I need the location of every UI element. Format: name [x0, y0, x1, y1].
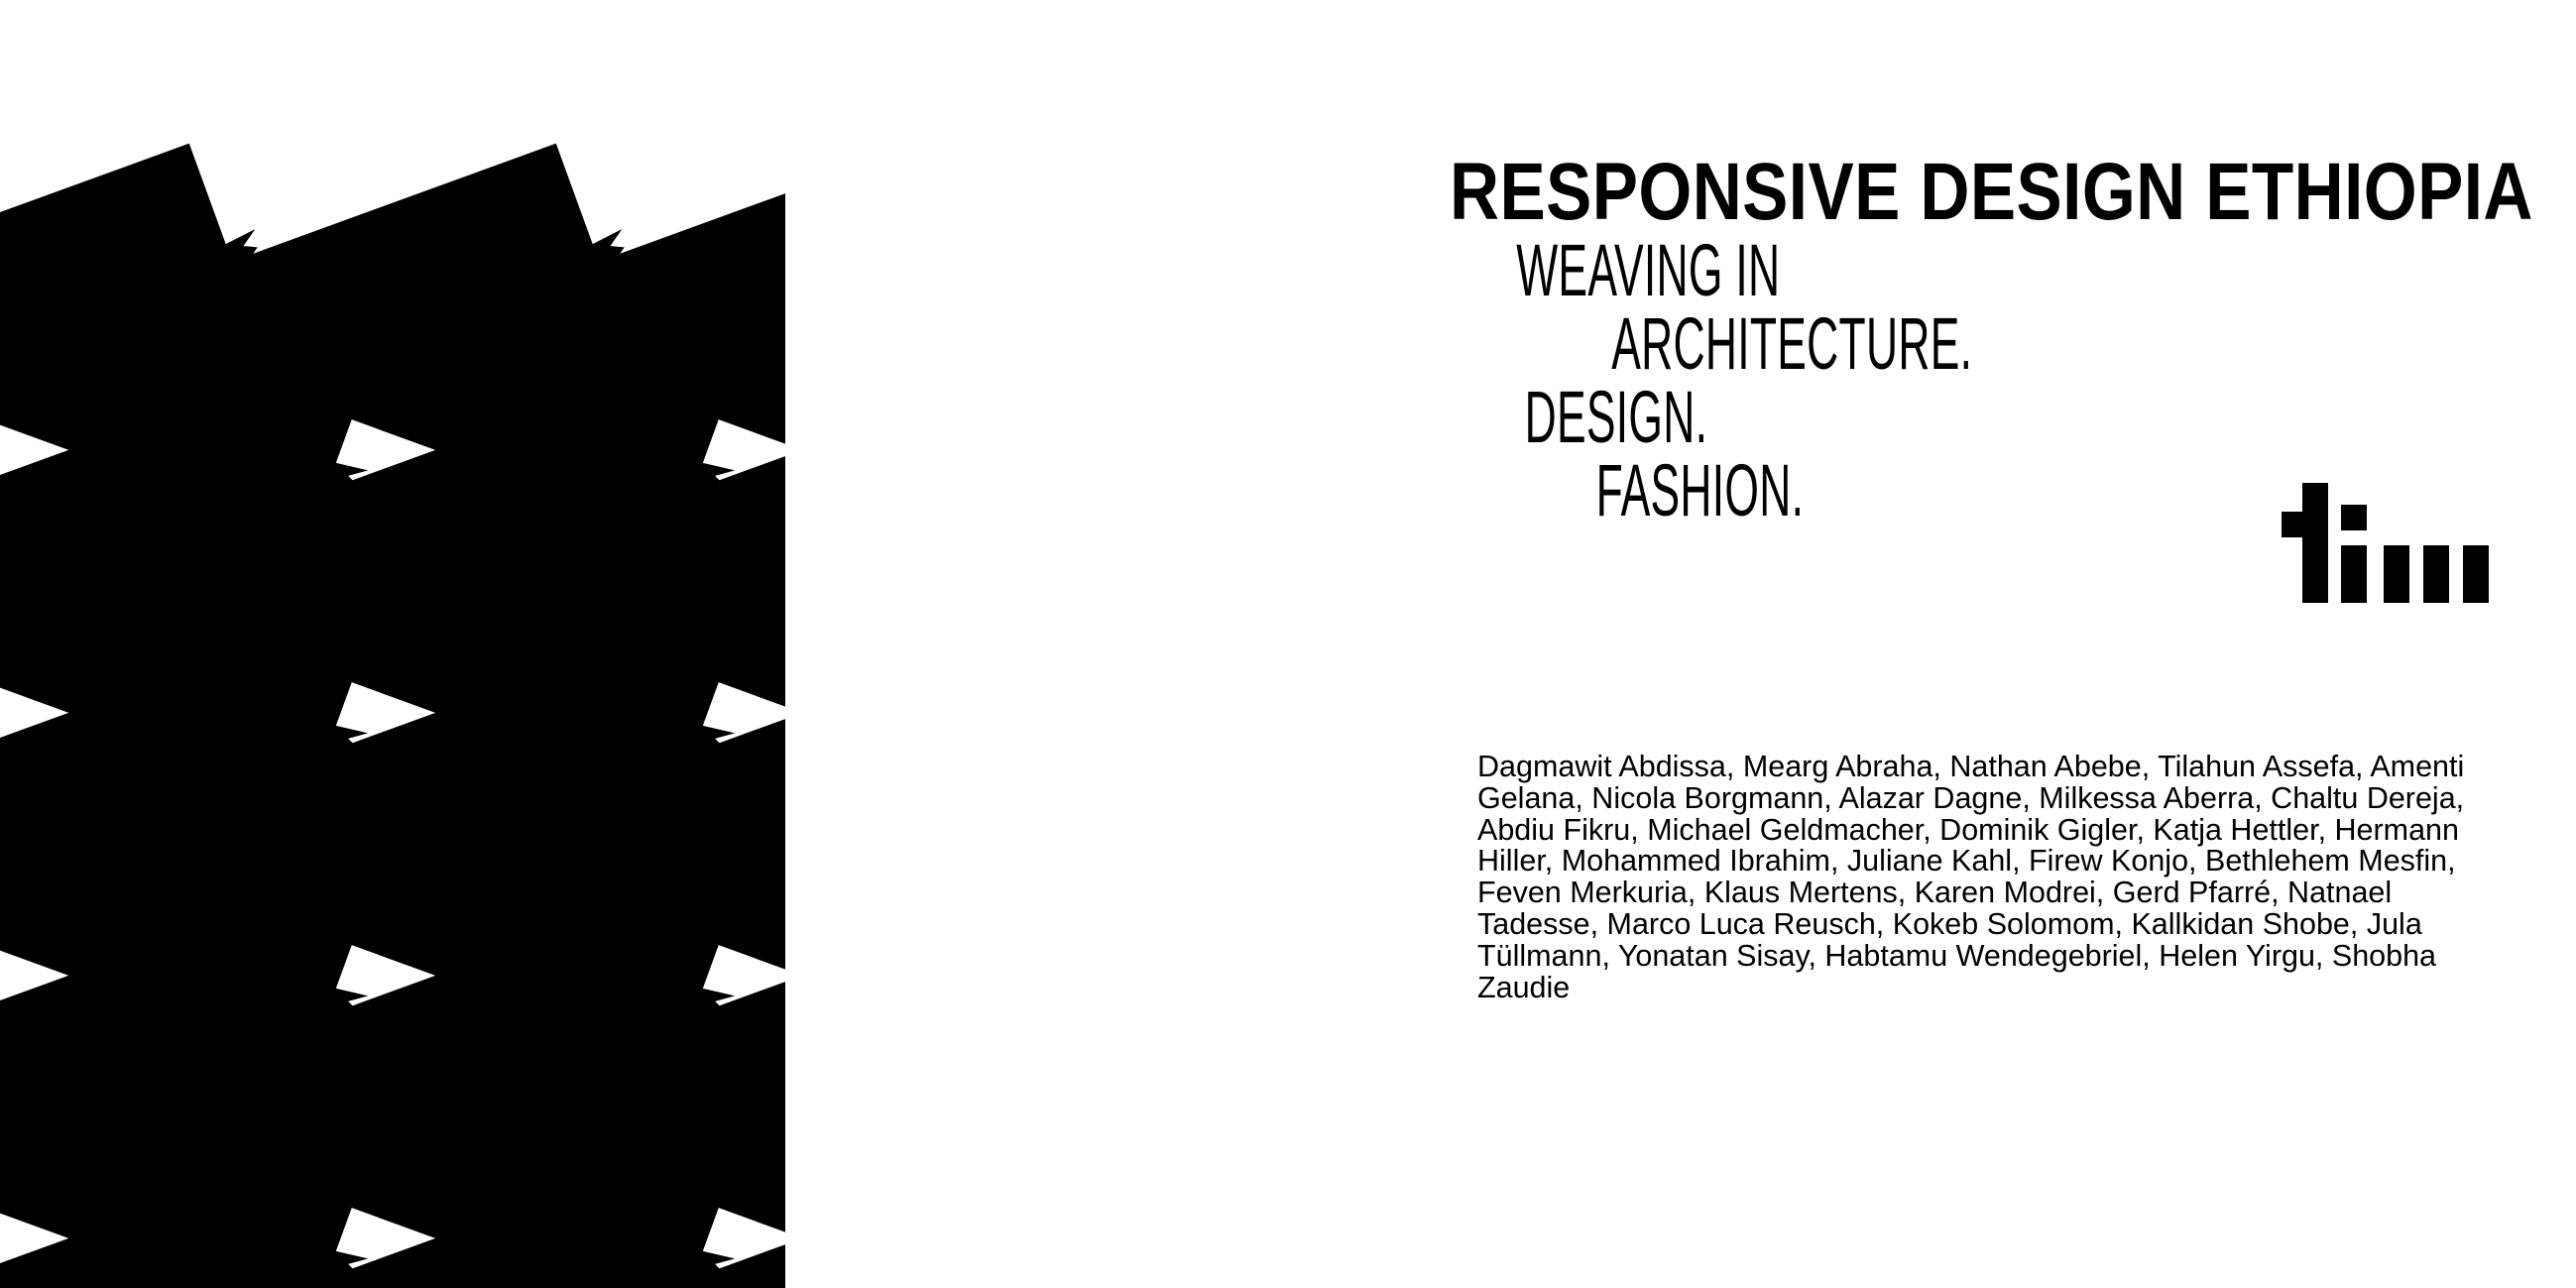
text-column: RESPONSIVE DESIGN ETHIOPIA WEAVING IN AR…: [1450, 0, 2576, 1288]
logo-letter-t: [2282, 483, 2328, 603]
headline-line-design: DESIGN.: [1450, 381, 1707, 454]
headline-line-architecture: ARCHITECTURE.: [1450, 307, 1972, 381]
headline-line-row: DESIGN.: [1450, 381, 2576, 454]
headline-block: RESPONSIVE DESIGN ETHIOPIA WEAVING IN AR…: [1450, 151, 2576, 527]
headline-line-weaving-in: WEAVING IN: [1450, 234, 1780, 307]
participant-names-text: Dagmawit Abdissa, Mearg Abraha, Nathan A…: [1477, 752, 2489, 1003]
headline-line-row: WEAVING IN: [1450, 234, 2576, 307]
poster-canvas: RESPONSIVE DESIGN ETHIOPIA WEAVING IN AR…: [0, 0, 2576, 1288]
headline-line-fashion: FASHION.: [1450, 454, 1804, 527]
weave-pattern-graphic: [0, 0, 785, 1288]
headline-line-row: ARCHITECTURE.: [1450, 307, 2576, 381]
logo-letter-i: [2341, 505, 2367, 603]
participant-credits: Dagmawit Abdissa, Mearg Abraha, Nathan A…: [1477, 752, 2489, 1003]
weave-pattern-panel: [0, 0, 785, 1288]
logo-letter-m: [2384, 545, 2489, 603]
poster-title: RESPONSIVE DESIGN ETHIOPIA: [1450, 151, 2401, 234]
tim-logo[interactable]: [2282, 483, 2489, 603]
